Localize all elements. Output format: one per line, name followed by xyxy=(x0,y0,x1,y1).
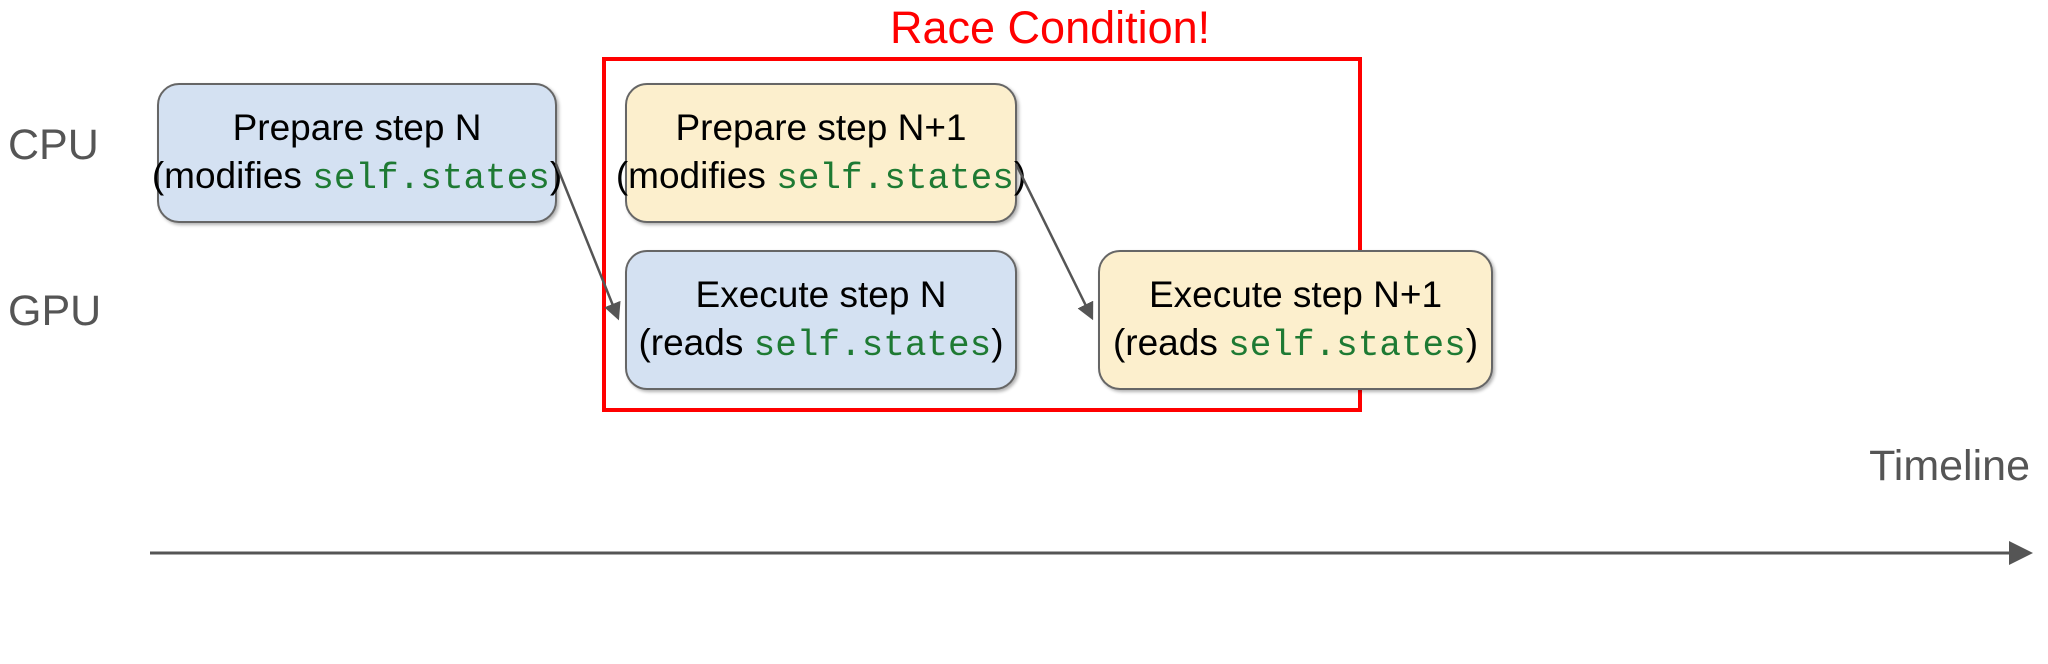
box-prepare-step-n-plus-1-line1: Prepare step N+1 xyxy=(675,106,966,150)
box-prepare-step-n-line2: (modifies self.states) xyxy=(152,154,562,200)
code-self-states: self.states xyxy=(754,325,992,366)
diagram-canvas: Race Condition! CPU GPU Prepare step N (… xyxy=(0,0,2048,664)
box-prepare-step-n-plus-1-line2: (modifies self.states) xyxy=(616,154,1026,200)
timeline-axis-label: Timeline xyxy=(1869,442,2030,491)
text-prefix: (modifies xyxy=(152,155,312,196)
box-execute-step-n-plus-1-line1: Execute step N+1 xyxy=(1149,273,1442,317)
text-suffix: ) xyxy=(1014,155,1026,196)
box-execute-step-n[interactable]: Execute step N (reads self.states) xyxy=(625,250,1017,390)
text-suffix: ) xyxy=(550,155,562,196)
box-execute-step-n-line2: (reads self.states) xyxy=(638,321,1003,367)
code-self-states: self.states xyxy=(312,158,550,199)
box-prepare-step-n-line1: Prepare step N xyxy=(233,106,482,150)
lane-label-cpu: CPU xyxy=(8,121,99,170)
box-execute-step-n-plus-1[interactable]: Execute step N+1 (reads self.states) xyxy=(1098,250,1493,390)
text-suffix: ) xyxy=(991,322,1003,363)
box-execute-step-n-line1: Execute step N xyxy=(696,273,947,317)
box-prepare-step-n[interactable]: Prepare step N (modifies self.states) xyxy=(157,83,557,223)
text-prefix: (modifies xyxy=(616,155,776,196)
text-suffix: ) xyxy=(1466,322,1478,363)
text-prefix: (reads xyxy=(1113,322,1228,363)
code-self-states: self.states xyxy=(1228,325,1466,366)
box-prepare-step-n-plus-1[interactable]: Prepare step N+1 (modifies self.states) xyxy=(625,83,1017,223)
text-prefix: (reads xyxy=(638,322,753,363)
box-execute-step-n-plus-1-line2: (reads self.states) xyxy=(1113,321,1478,367)
lane-label-gpu: GPU xyxy=(8,287,101,336)
code-self-states: self.states xyxy=(776,158,1014,199)
race-condition-title: Race Condition! xyxy=(890,2,1210,54)
